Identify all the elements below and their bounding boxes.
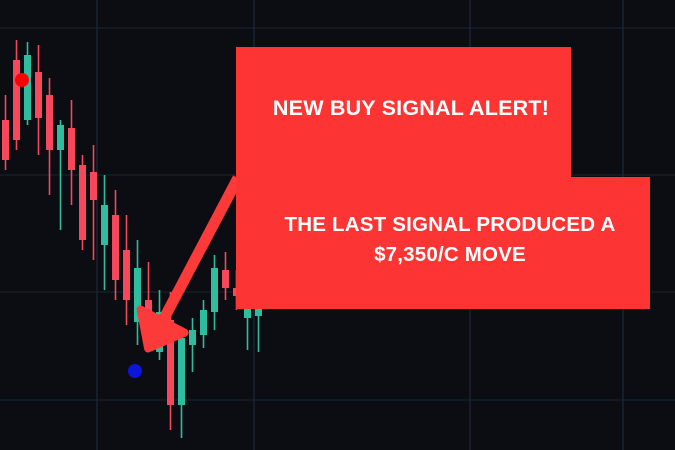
candlestick-chart[interactable] bbox=[0, 0, 675, 450]
candle-body bbox=[68, 128, 75, 170]
candle-body bbox=[255, 300, 262, 316]
sell-signal-dot[interactable] bbox=[15, 73, 29, 87]
candle-body bbox=[123, 250, 130, 300]
candle bbox=[79, 155, 86, 250]
candle-body bbox=[2, 120, 9, 160]
candle-body bbox=[112, 215, 119, 280]
chart-screenshot: NEW BUY SIGNAL ALERT! THE LAST SIGNAL PR… bbox=[0, 0, 675, 450]
candle-body bbox=[178, 338, 185, 405]
candle-body bbox=[79, 165, 86, 240]
candle-body bbox=[90, 172, 97, 200]
candle-body bbox=[233, 288, 240, 296]
buy-signal-dot[interactable] bbox=[128, 364, 142, 378]
candle-body bbox=[35, 72, 42, 118]
candle-body bbox=[189, 330, 196, 345]
candle-body bbox=[46, 95, 53, 150]
candle-body bbox=[222, 270, 229, 288]
candle-body bbox=[244, 292, 251, 318]
candle-body bbox=[211, 268, 218, 312]
candle-body bbox=[101, 205, 108, 245]
candle-body bbox=[57, 125, 64, 150]
candle-body bbox=[24, 55, 31, 120]
candle-body bbox=[200, 310, 207, 335]
candle-body bbox=[13, 60, 20, 140]
